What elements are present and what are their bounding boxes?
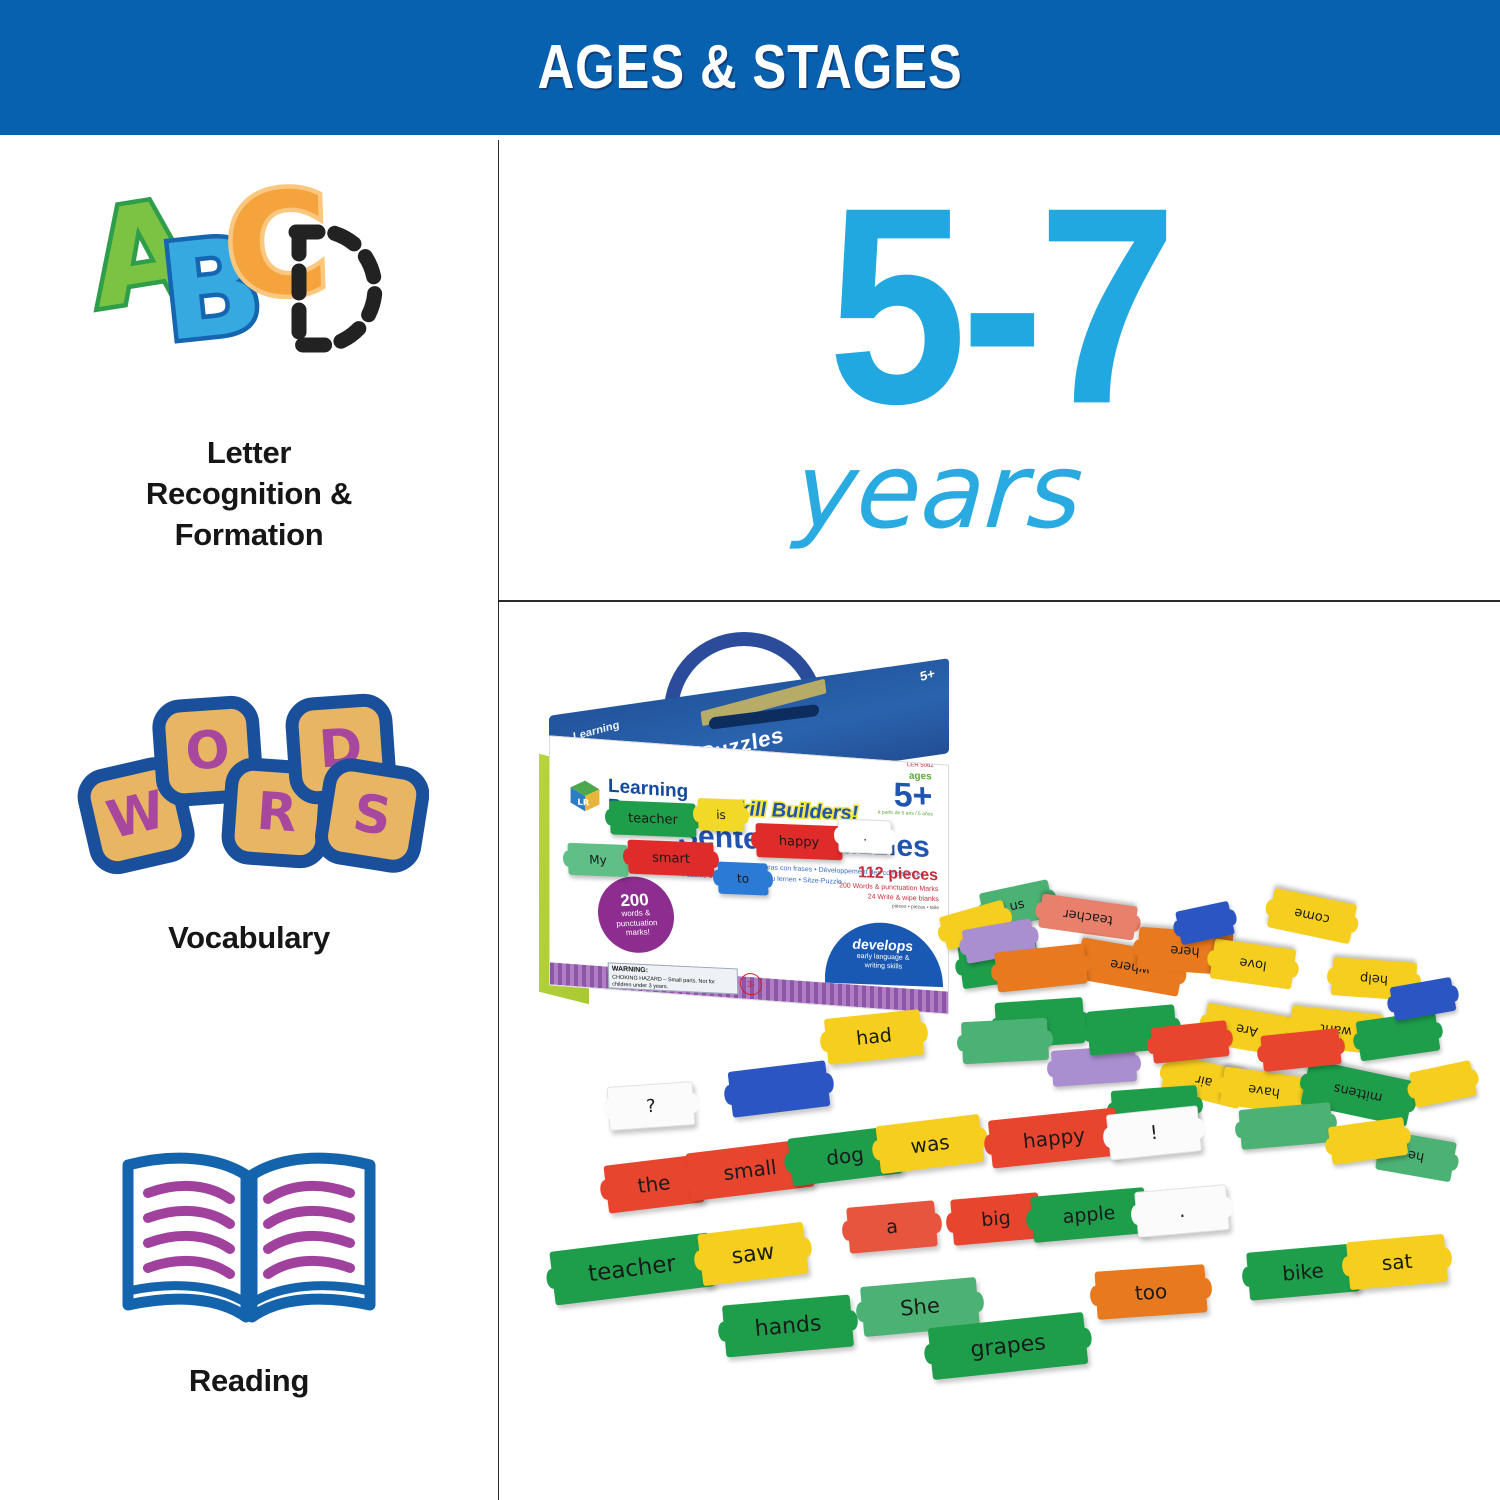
puzzle-piece-come: come (1267, 888, 1357, 945)
skill-label-reading: Reading (189, 1361, 309, 1402)
skill-item-reading: Reading (0, 1047, 498, 1500)
age-panel: 5-7 years (499, 140, 1500, 600)
svg-text:O: O (183, 719, 231, 782)
abc-blocks-icon: A B C (84, 177, 414, 407)
puzzle-piece-blank (1238, 1102, 1333, 1150)
puzzle-piece-: ! (1106, 1105, 1202, 1160)
page-header: AGES & STAGES (0, 0, 1500, 135)
puzzle-piece-: ? (607, 1081, 696, 1131)
puzzle-piece-love: love (1210, 938, 1297, 989)
page-title: AGES & STAGES (538, 32, 963, 103)
age-range: 5-7 (828, 185, 1171, 426)
skill-item-letter-recognition: A B C LetterRecognition &Formation (0, 140, 498, 593)
product-photo-panel: Learning Sentence Puzzles 5+ LER 5062 LR… (499, 602, 1500, 1500)
puzzle-piece-: . (1134, 1184, 1230, 1238)
puzzle-piece-a: a (846, 1200, 938, 1253)
age-unit: years (793, 439, 1086, 543)
puzzle-piece-blank (994, 943, 1088, 992)
word-blocks-icon: W O R D S (69, 682, 429, 892)
puzzle-piece-sat: sat (1346, 1234, 1448, 1290)
puzzle-piece-blank (961, 1018, 1049, 1064)
skill-label-vocabulary: Vocabulary (168, 918, 330, 959)
puzzle-piece-too: too (1094, 1264, 1207, 1320)
open-book-icon (114, 1145, 384, 1335)
skill-label-letter-recognition: LetterRecognition &Formation (146, 433, 352, 556)
svg-text:C: C (223, 177, 331, 329)
puzzle-piece-teacher: teacher (1038, 893, 1138, 940)
skill-item-vocabulary: W O R D S Vocabular (0, 593, 498, 1046)
svg-text:R: R (255, 781, 299, 844)
puzzle-piece-blank (1150, 1020, 1229, 1064)
puzzle-piece-hands: hands (722, 1295, 854, 1358)
puzzle-piece-blank (1409, 1060, 1477, 1108)
skills-column: A B C LetterRecognition &Formation (0, 140, 498, 1500)
